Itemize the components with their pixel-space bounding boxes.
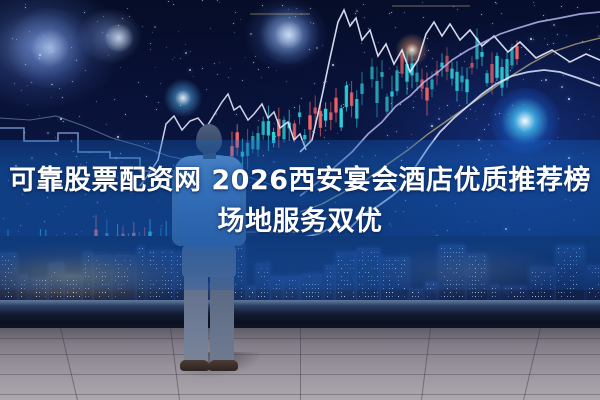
headline-line-1: 可靠股票配资网 2026西安宴会酒店优质推荐榜	[0, 160, 600, 201]
banner-image: 可靠股票配资网 2026西安宴会酒店优质推荐榜 场地服务双优	[0, 0, 600, 400]
rooftop-parapet	[0, 300, 600, 331]
person-head	[196, 124, 222, 154]
person-left-shoe	[180, 360, 210, 371]
headline-text: 可靠股票配资网 2026西安宴会酒店优质推荐榜 场地服务双优	[0, 160, 600, 242]
person-right-shoe	[208, 360, 238, 371]
headline-line-2: 场地服务双优	[0, 201, 600, 242]
person-left-leg	[184, 272, 208, 364]
person-right-leg	[210, 272, 234, 364]
trend-line-white-right	[300, 10, 600, 152]
terrace-floor	[0, 328, 600, 400]
person-hips	[182, 243, 236, 277]
city-skyline	[0, 236, 600, 308]
